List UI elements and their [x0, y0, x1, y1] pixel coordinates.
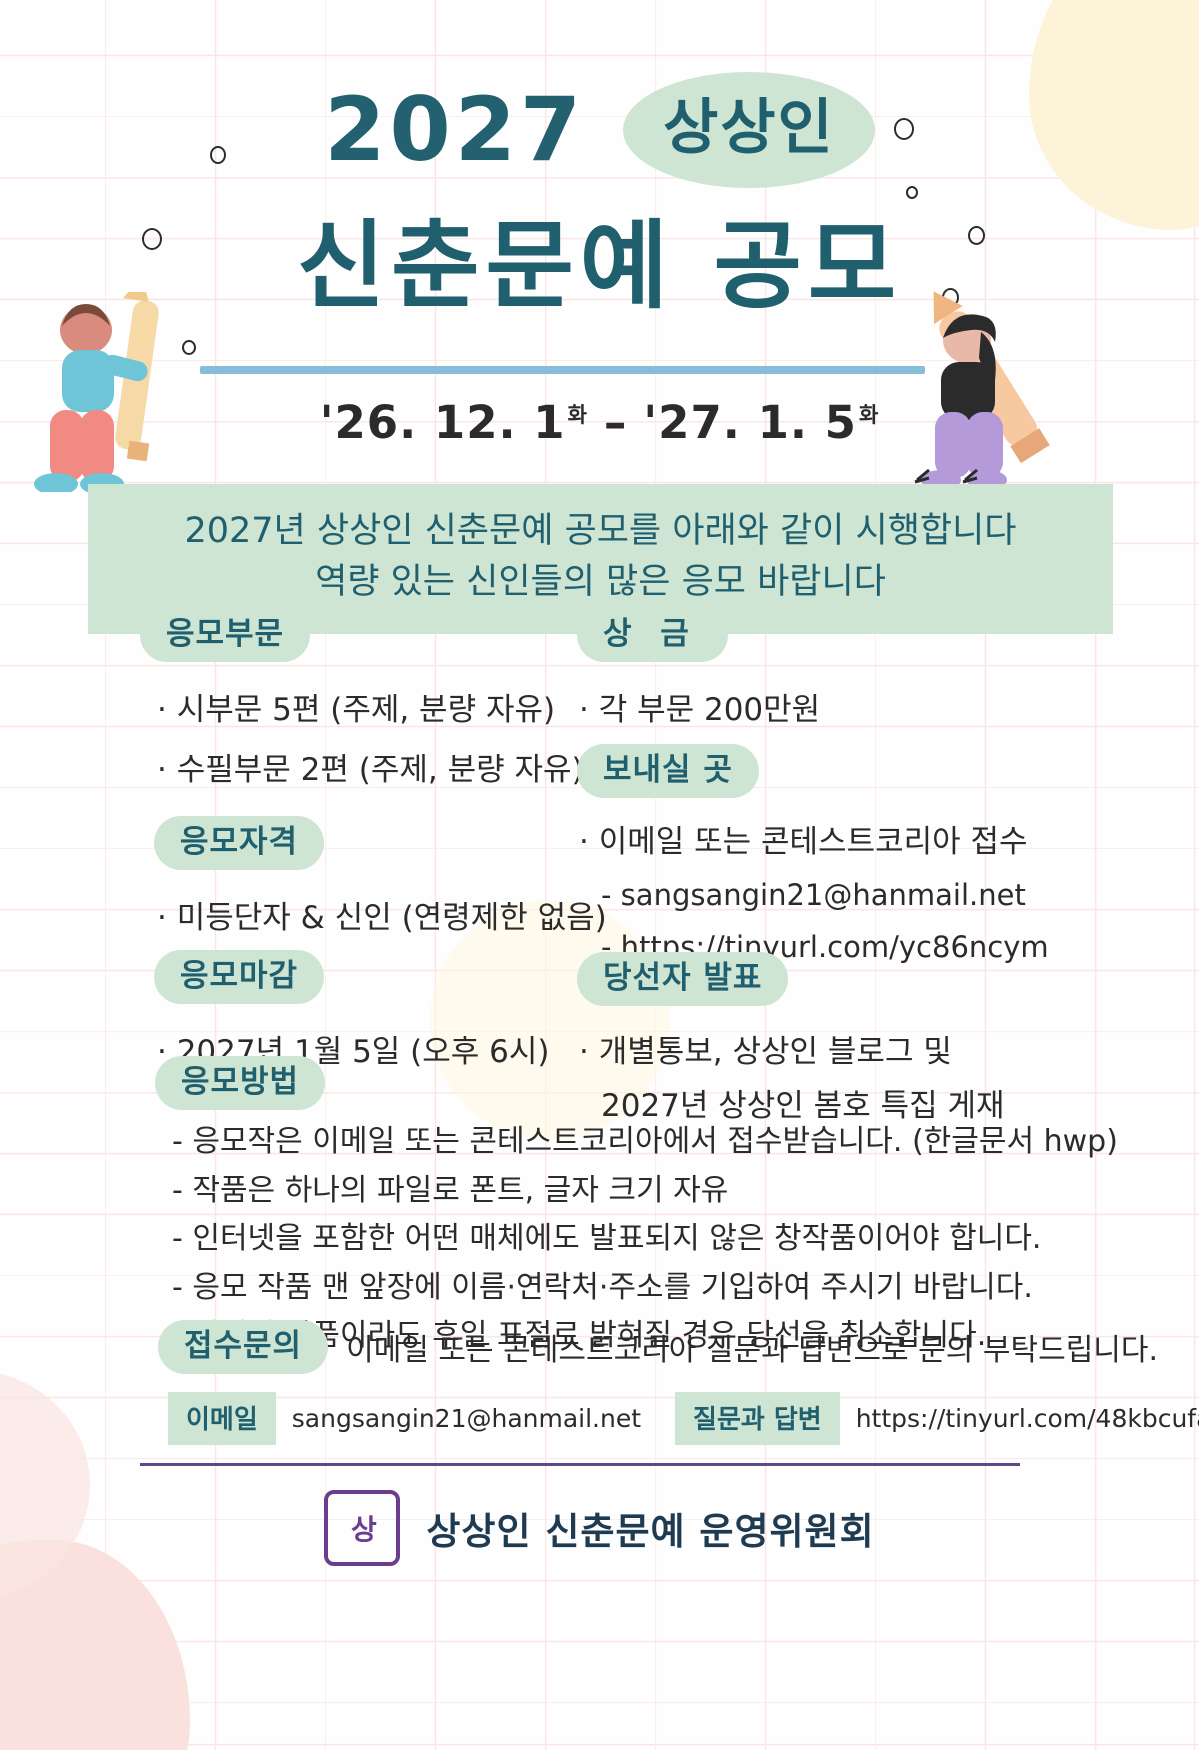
- list-item: · 개별통보, 상상인 블로그 및: [579, 1030, 1005, 1074]
- mascot-right-illustration: [889, 288, 1079, 498]
- section-tag-eligibility: 응모자격: [154, 816, 324, 870]
- section-eligibility-items: · 미등단자 & 신인 (연령제한 없음): [157, 896, 607, 940]
- section-eligibility: 응모자격: [154, 816, 324, 870]
- section-submit-to: 보내실 곳: [577, 744, 759, 798]
- contact-email-value[interactable]: sangsangin21@hanmail.net: [292, 1404, 641, 1433]
- section-tag-method: 응모방법: [155, 1056, 325, 1110]
- brand-badge: 상상인: [623, 72, 875, 188]
- list-item: - 응모작은 이메일 또는 콘테스트코리아에서 접수받습니다. (한글문서 hw…: [172, 1118, 1118, 1167]
- section-tag-category: 응모부문: [140, 608, 310, 662]
- section-tag-inquiry: 접수문의: [158, 1320, 328, 1374]
- contact-chip-email: 이메일: [168, 1392, 276, 1445]
- title-row-primary: 2027 상상인: [0, 72, 1199, 188]
- list-item: · 각 부문 200만원: [579, 688, 820, 732]
- section-submit-to-items: · 이메일 또는 콘테스트코리아 접수 - sangsangin21@hanma…: [579, 820, 1049, 968]
- poster-header: 2027 상상인 신춘문예 공모 '26. 12. 1화–'27. 1. 5화: [0, 0, 1199, 470]
- section-category: 응모부문: [140, 608, 310, 662]
- list-item: - 작품은 하나의 파일로 폰트, 글자 크기 자유: [172, 1167, 1118, 1216]
- list-item: · 미등단자 & 신인 (연령제한 없음): [157, 896, 607, 940]
- list-item: · 시부문 5편 (주제, 분량 자유): [157, 688, 584, 732]
- section-method: 응모방법: [155, 1056, 325, 1110]
- mascot-left-illustration: [28, 292, 198, 492]
- list-item: - 응모 작품 맨 앞장에 이름·연락처·주소를 기입하여 주시기 바랍니다.: [172, 1264, 1118, 1313]
- inquiry-text: 이메일 또는 콘테스트코리아 질문과 답변으로 문의 부탁드립니다.: [346, 1325, 1158, 1369]
- section-prize-items: · 각 부문 200만원: [579, 688, 820, 732]
- date-end: '27. 1. 5: [643, 396, 857, 449]
- date-start-weekday: 화: [568, 403, 588, 427]
- section-announcement: 당선자 발표: [577, 952, 788, 1006]
- organization-seal-icon: 상: [324, 1490, 400, 1566]
- section-inquiry: 접수문의 이메일 또는 콘테스트코리아 질문과 답변으로 문의 부탁드립니다.: [158, 1320, 1158, 1374]
- section-announcement-items: · 개별통보, 상상인 블로그 및 2027년 상상인 봄호 특집 게재: [579, 1030, 1005, 1128]
- section-tag-announcement: 당선자 발표: [577, 952, 788, 1006]
- section-deadline: 응모마감: [154, 950, 324, 1004]
- title-underline-rule: [200, 366, 925, 374]
- poster-root: 2027 상상인 신춘문예 공모 '26. 12. 1화–'27. 1. 5화: [0, 0, 1199, 1750]
- submit-email-link[interactable]: - sangsangin21@hanmail.net: [601, 874, 1049, 916]
- section-prize: 상 금: [577, 608, 728, 662]
- organization-name: 상상인 신춘문예 운영위원회: [426, 1501, 874, 1555]
- poster-footer: 상 상상인 신춘문예 운영위원회: [0, 1490, 1199, 1566]
- list-item: - 인터넷을 포함한 어떤 매체에도 발표되지 않은 창작품이어야 합니다.: [172, 1215, 1118, 1264]
- date-start: '26. 12. 1: [320, 396, 566, 449]
- section-category-items: · 시부문 5편 (주제, 분량 자유) · 수필부문 2편 (주제, 분량 자…: [157, 688, 584, 792]
- year-label: 2027: [324, 86, 585, 174]
- contact-qna-url[interactable]: https://tinyurl.com/48kbcufa: [856, 1404, 1199, 1433]
- intro-line-1: 2027년 상상인 신춘문예 공모를 아래와 같이 시행합니다: [88, 506, 1113, 557]
- intro-line-2: 역량 있는 신인들의 많은 응모 바랍니다: [88, 557, 1113, 608]
- contact-row: 이메일 sangsangin21@hanmail.net 질문과 답변 http…: [168, 1392, 1199, 1445]
- section-tag-prize: 상 금: [577, 608, 728, 662]
- date-range-dash: –: [604, 396, 628, 449]
- list-item: · 이메일 또는 콘테스트코리아 접수: [579, 820, 1049, 864]
- section-tag-submit-to: 보내실 곳: [577, 744, 759, 798]
- contact-chip-qna: 질문과 답변: [675, 1392, 840, 1445]
- section-tag-deadline: 응모마감: [154, 950, 324, 1004]
- list-item: · 수필부문 2편 (주제, 분량 자유): [157, 748, 584, 792]
- date-end-weekday: 화: [859, 403, 879, 427]
- footer-divider-rule: [140, 1463, 1020, 1466]
